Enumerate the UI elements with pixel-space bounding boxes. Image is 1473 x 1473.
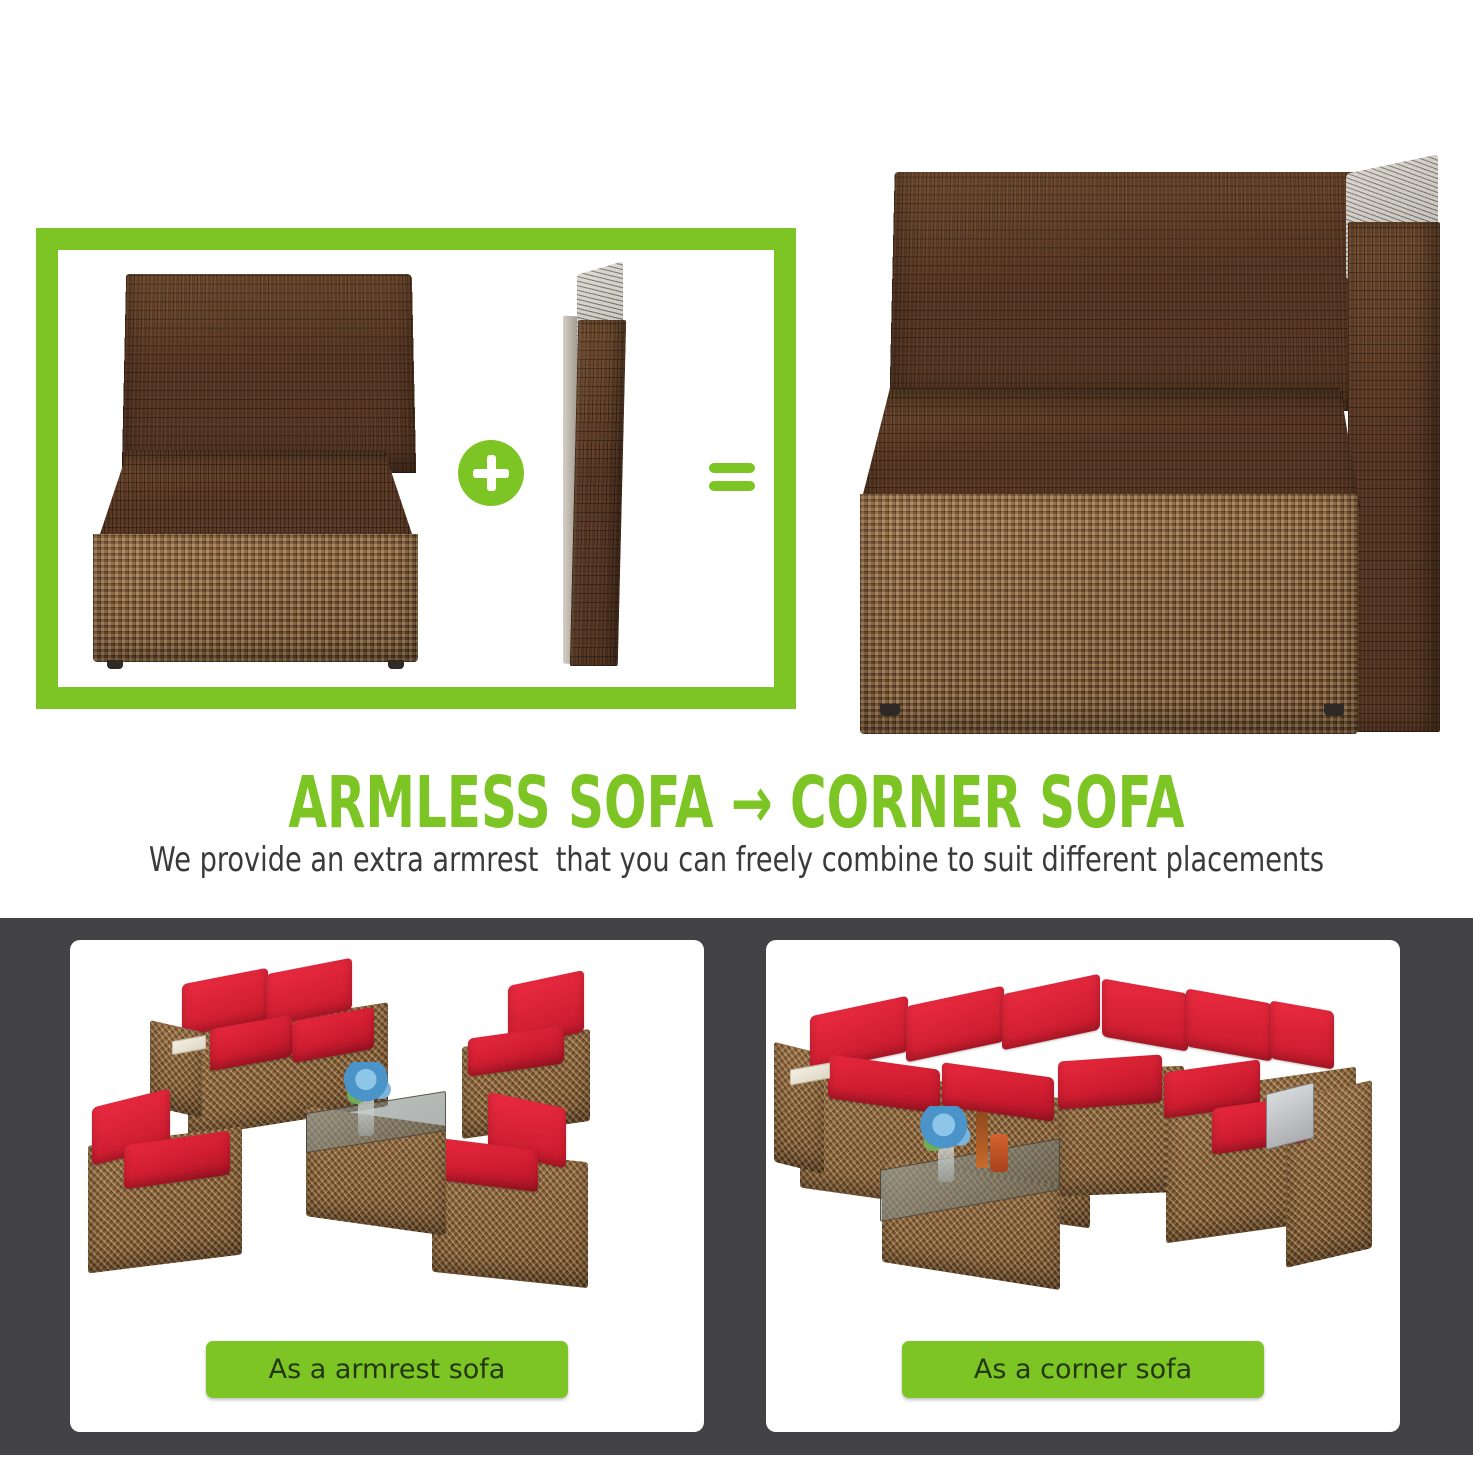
corner-sofa-scene bbox=[766, 940, 1400, 1310]
corner-sofa-seat bbox=[860, 388, 1360, 506]
corner-sofa-image bbox=[860, 160, 1450, 760]
sofa-foot bbox=[107, 660, 123, 669]
as-corner-sofa-button[interactable]: As a corner sofa bbox=[902, 1341, 1264, 1398]
conversion-subline: We provide an extra armrest that you can… bbox=[147, 840, 1325, 880]
flower-bouquet-prop bbox=[914, 1106, 980, 1160]
equals-bar-bottom bbox=[709, 481, 755, 491]
corner-sofa-armrest bbox=[1348, 222, 1440, 732]
extra-armrest-image bbox=[563, 268, 625, 666]
flower-bouquet-prop bbox=[338, 1062, 400, 1112]
armless-sofa-base bbox=[93, 534, 418, 662]
bottle-prop-2 bbox=[990, 1134, 1008, 1172]
convertible-diagram-section: ARMLESS SOFA → CORNER SOFA We provide an… bbox=[0, 0, 1473, 918]
sectional-back-cushion-6 bbox=[1270, 1000, 1334, 1069]
corner-sofa-base bbox=[860, 494, 1358, 734]
corner-sofa-card: As a corner sofa bbox=[766, 940, 1400, 1432]
bottle-prop-1 bbox=[976, 1112, 988, 1168]
green-frame-box bbox=[36, 228, 796, 709]
corner-sofa-backrest bbox=[889, 172, 1365, 411]
product-infographic: CONVERTIBLE FUNCTION bbox=[0, 0, 1473, 1473]
as-armrest-sofa-button[interactable]: As a armrest sofa bbox=[206, 1341, 568, 1398]
equals-bar-top bbox=[709, 463, 755, 473]
armrest-sofa-card: As a armrest sofa bbox=[70, 940, 704, 1432]
conversion-headline: ARMLESS SOFA → CORNER SOFA bbox=[162, 762, 1311, 845]
green-frame-inner bbox=[58, 250, 774, 687]
sectional-back-cushion-3 bbox=[1002, 974, 1100, 1051]
sofa-foot bbox=[388, 660, 404, 669]
armrest-panel bbox=[570, 320, 626, 666]
sectional-back-cushion-5 bbox=[1186, 988, 1272, 1061]
armless-sofa-backrest bbox=[122, 274, 416, 473]
sectional-back-cushion-2 bbox=[906, 986, 1004, 1063]
sofa-foot bbox=[1324, 704, 1344, 716]
sofa-foot bbox=[880, 704, 900, 716]
bottom-white-strip bbox=[0, 1455, 1473, 1473]
armrest-sofa-scene bbox=[70, 940, 704, 1310]
sectional-back-cushion-4 bbox=[1102, 978, 1188, 1051]
sectional-seat-cushion-corner bbox=[1058, 1054, 1162, 1109]
armless-sofa-image bbox=[90, 272, 420, 662]
armless-sofa-seat bbox=[96, 450, 416, 546]
usage-examples-section: As a armrest sofa bbox=[0, 918, 1473, 1455]
plus-icon bbox=[458, 440, 524, 506]
equals-icon bbox=[690, 433, 774, 517]
laptop-prop bbox=[1266, 1082, 1314, 1150]
